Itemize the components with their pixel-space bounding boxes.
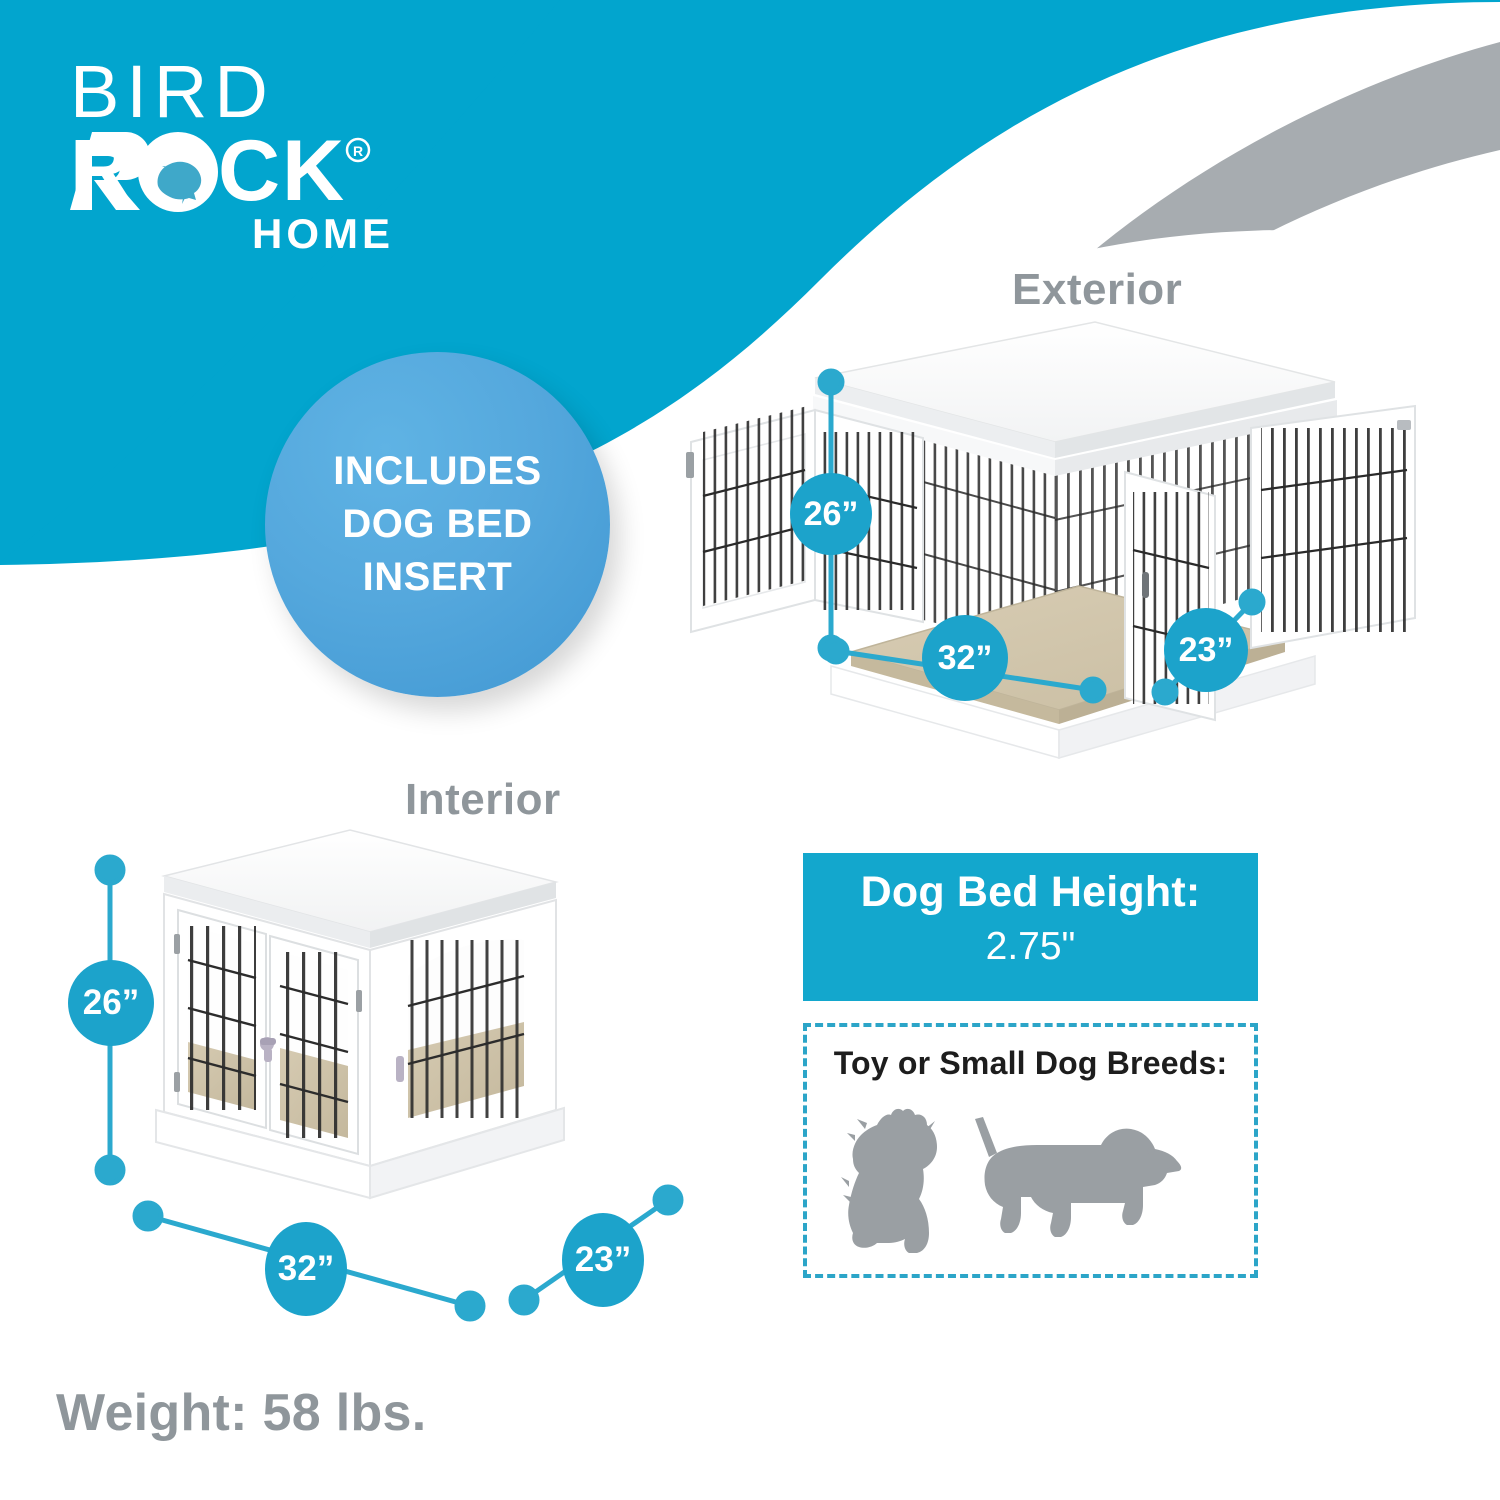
badge-line-2: DOG BED bbox=[333, 498, 541, 551]
logo-rock-wordmark: R C K R bbox=[70, 128, 400, 214]
svg-text:C: C bbox=[218, 128, 280, 214]
includes-badge-text: INCLUDES DOG BED INSERT bbox=[333, 445, 541, 603]
interior-depth-badge: 23” bbox=[562, 1213, 644, 1307]
badge-line-1: INCLUDES bbox=[333, 445, 541, 498]
brand-logo: BIRD R C K R HOME bbox=[70, 58, 400, 258]
product-weight-text: Weight: 58 lbs. bbox=[56, 1383, 426, 1443]
interior-width-badge: 32” bbox=[265, 1222, 347, 1316]
interior-crate-illustration bbox=[120, 810, 660, 1250]
side-door-latch-icon bbox=[396, 1056, 404, 1082]
exterior-crate-illustration bbox=[655, 300, 1455, 770]
dog-breeds-box: Toy or Small Dog Breeds: bbox=[803, 1023, 1258, 1278]
dog-bed-height-banner: Dog Bed Height: 2.75" bbox=[803, 853, 1258, 1001]
exterior-width-badge: 32” bbox=[922, 615, 1008, 701]
badge-line-3: INSERT bbox=[333, 551, 541, 604]
brand-tag-icon bbox=[1397, 420, 1411, 430]
svg-text:R: R bbox=[70, 128, 131, 214]
logo-rock-svg: R C K R bbox=[70, 128, 400, 214]
dog-breeds-title: Toy or Small Dog Breeds: bbox=[807, 1045, 1254, 1082]
logo-bird-text: BIRD bbox=[70, 58, 400, 126]
infographic-page: BIRD R C K R HOME bbox=[0, 0, 1500, 1500]
hinge-icon bbox=[686, 452, 694, 478]
svg-text:R: R bbox=[353, 143, 363, 159]
dachshund-icon bbox=[975, 1117, 1181, 1237]
dog-breeds-silhouettes bbox=[807, 1095, 1254, 1275]
dog-bed-height-title: Dog Bed Height: bbox=[803, 867, 1258, 918]
hinge-icon bbox=[174, 1072, 180, 1092]
door-latch-icon bbox=[1142, 572, 1149, 598]
exterior-crate-svg bbox=[655, 300, 1455, 770]
logo-home-text: HOME bbox=[70, 210, 400, 258]
exterior-right-outer-door bbox=[1251, 406, 1415, 648]
yorkie-terrier-icon bbox=[841, 1109, 937, 1253]
interior-crate-svg bbox=[120, 810, 660, 1250]
dog-bed-height-value: 2.75" bbox=[803, 922, 1258, 973]
interior-height-badge: 26” bbox=[68, 960, 154, 1046]
includes-dog-bed-badge: INCLUDES DOG BED INSERT bbox=[265, 352, 610, 697]
exterior-height-badge: 26” bbox=[790, 473, 872, 555]
svg-text:K: K bbox=[282, 128, 344, 214]
exterior-depth-badge: 23” bbox=[1164, 608, 1248, 692]
hinge-icon bbox=[174, 934, 180, 954]
hinge-icon bbox=[356, 990, 362, 1012]
dog-silhouettes-svg bbox=[821, 1095, 1241, 1270]
